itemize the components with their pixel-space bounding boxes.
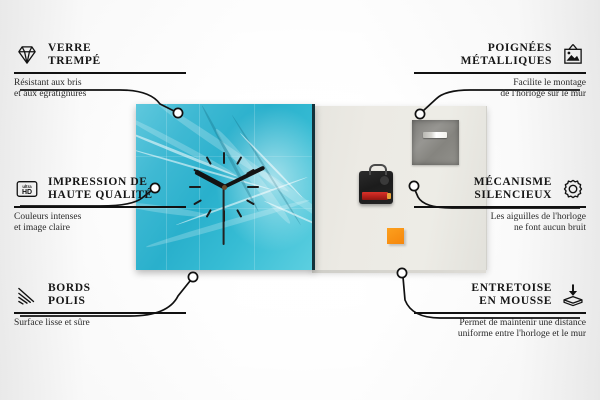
callout-mecanisme-silencieux: MÉCANISME SILENCIEUX Les aiguilles de l'… xyxy=(414,176,586,235)
callout-desc-line1: Surface lisse et sûre xyxy=(14,318,186,330)
callout-divider xyxy=(414,72,586,74)
ultra-hd-icon: ultra HD xyxy=(14,176,40,202)
callout-divider xyxy=(14,72,186,74)
callout-title: IMPRESSION DE HAUTE QUALITÉ xyxy=(48,176,153,202)
diamond-icon xyxy=(14,42,40,68)
callout-verre-trempe: VERRE TREMPÉ Résistant aux bris et aux é… xyxy=(14,42,186,101)
callout-poignees-metalliques: POIGNÉES MÉTALLIQUES Facilite le montage… xyxy=(414,42,586,101)
svg-text:HD: HD xyxy=(22,189,32,196)
callout-title: MÉCANISME SILENCIEUX xyxy=(474,176,552,202)
wire-endpoint-verre-trempe xyxy=(173,108,182,117)
foam-spacer-icon xyxy=(560,282,586,308)
callout-divider xyxy=(14,312,186,314)
callout-bords-polis: BORDS POLIS Surface lisse et sûre xyxy=(14,282,186,329)
callout-desc-line1: Permet de maintenir une distance xyxy=(414,318,586,330)
callout-divider xyxy=(14,206,186,208)
wire-endpoint-poignees xyxy=(415,109,424,118)
callout-title: VERRE TREMPÉ xyxy=(48,42,101,68)
callout-header: MÉCANISME SILENCIEUX xyxy=(414,176,586,202)
svg-text:ultra: ultra xyxy=(22,184,32,189)
callout-title: POIGNÉES MÉTALLIQUES xyxy=(461,42,552,68)
callout-desc-line1: Couleurs intenses xyxy=(14,212,186,224)
callout-divider xyxy=(414,206,586,208)
callout-desc-line1: Les aiguilles de l'horloge xyxy=(414,212,586,224)
callout-impression-haute-qualite: ultra HD IMPRESSION DE HAUTE QUALITÉ Cou… xyxy=(14,176,186,235)
callout-header: ENTRETOISE EN MOUSSE xyxy=(414,282,586,308)
wire-endpoint-entretoise xyxy=(397,268,406,277)
callout-desc-line2: de l'horloge sur le mur xyxy=(414,89,586,101)
callout-header: VERRE TREMPÉ xyxy=(14,42,186,68)
callout-desc-line2: et aux égratignures xyxy=(14,89,186,101)
infographic-canvas: VERRE TREMPÉ Résistant aux bris et aux é… xyxy=(0,0,600,400)
callout-header: BORDS POLIS xyxy=(14,282,186,308)
callout-header: POIGNÉES MÉTALLIQUES xyxy=(414,42,586,68)
callout-header: ultra HD IMPRESSION DE HAUTE QUALITÉ xyxy=(14,176,186,202)
callout-title: BORDS POLIS xyxy=(48,282,91,308)
callout-desc-line1: Facilite le montage xyxy=(414,78,586,90)
polished-edge-icon xyxy=(14,282,40,308)
callout-desc-line1: Résistant aux bris xyxy=(14,78,186,90)
gear-icon xyxy=(560,176,586,202)
callout-desc-line2: et image claire xyxy=(14,223,186,235)
callout-desc-line2: uniforme entre l'horloge et le mur xyxy=(414,329,586,341)
wire-endpoint-bords-polis xyxy=(188,272,197,281)
callout-entretoise-en-mousse: ENTRETOISE EN MOUSSE Permet de maintenir… xyxy=(414,282,586,341)
callout-title: ENTRETOISE EN MOUSSE xyxy=(471,282,552,308)
hanging-frame-icon xyxy=(560,42,586,68)
callout-divider xyxy=(414,312,586,314)
callout-desc-line2: ne font aucun bruit xyxy=(414,223,586,235)
